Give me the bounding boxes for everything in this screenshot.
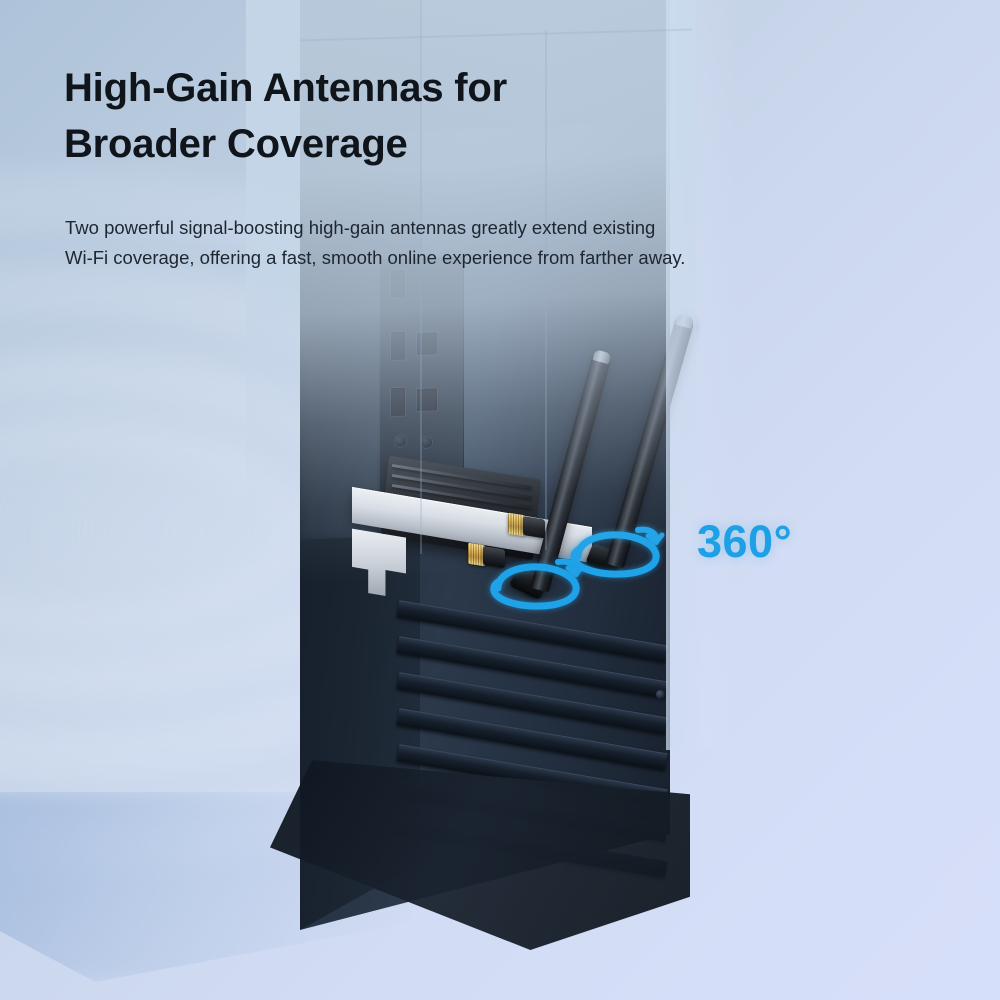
- case-base: [270, 760, 690, 950]
- io-audio-jack: [420, 436, 433, 449]
- headline-line-2: Broader Coverage: [64, 116, 704, 172]
- headline-line-1: High-Gain Antennas for: [64, 66, 507, 110]
- marketing-banner: High-Gain Antennas for Broader Coverage …: [0, 0, 1000, 1000]
- io-usb-port: [390, 331, 406, 362]
- rotation-label: 360°: [697, 516, 792, 568]
- body-line-2: Wi-Fi coverage, offering a fast, smooth …: [65, 243, 895, 273]
- pcie-bracket-tab: [352, 528, 406, 599]
- io-lan-port: [416, 331, 438, 356]
- rotation-arc-icon-right: [566, 518, 696, 608]
- body-copy: Two powerful signal-boosting high-gain a…: [65, 213, 895, 273]
- io-usb-port: [390, 269, 406, 300]
- io-audio-jack: [394, 435, 407, 448]
- page-title: High-Gain Antennas for Broader Coverage: [64, 60, 704, 172]
- body-line-1: Two powerful signal-boosting high-gain a…: [65, 213, 895, 243]
- sma-barrel: [523, 516, 545, 538]
- io-usb-port: [390, 387, 406, 418]
- case-screw: [656, 690, 665, 699]
- io-lan-port: [416, 387, 438, 412]
